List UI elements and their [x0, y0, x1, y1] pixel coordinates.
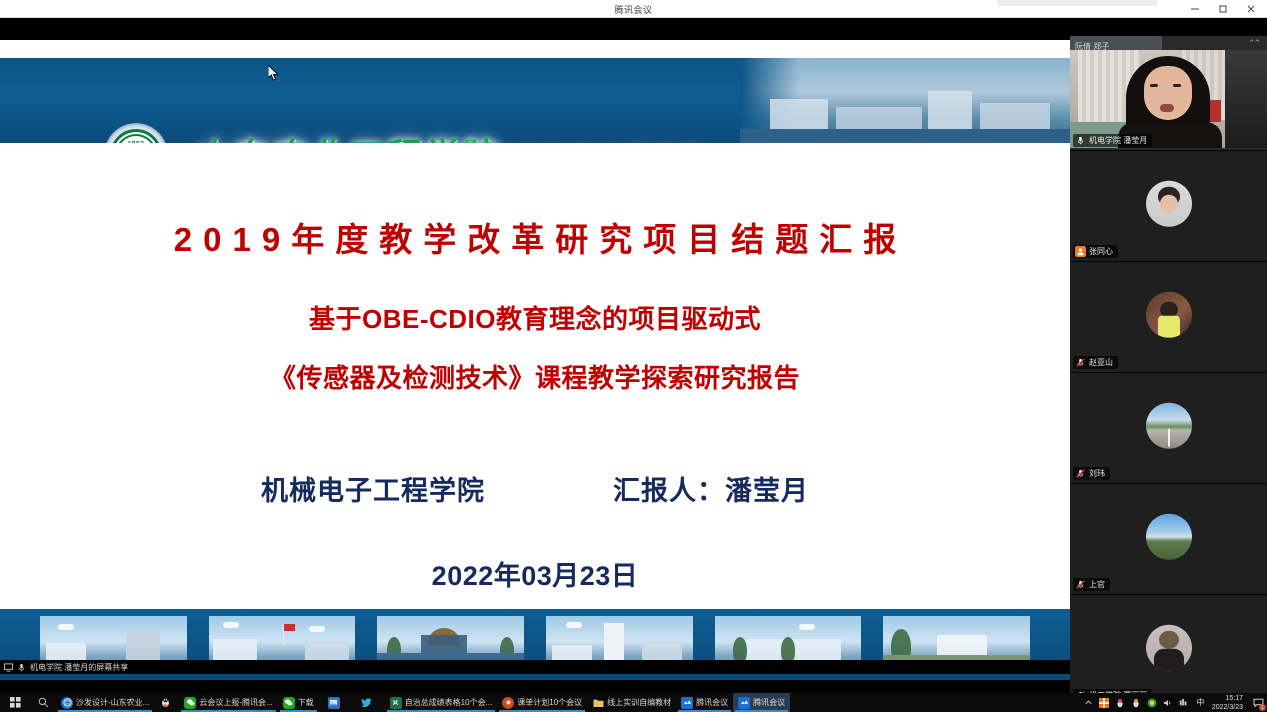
taskbar-item-wechat-2[interactable]: 下载 [278, 693, 319, 712]
taskbar-item-meeting-2[interactable]: 腾讯会议 [733, 693, 790, 712]
avatar [1146, 403, 1192, 449]
taskbar-item-qq[interactable] [154, 693, 179, 712]
notification-center-button[interactable]: 1 [1249, 693, 1267, 712]
app-orange-icon[interactable] [1099, 697, 1110, 708]
participant-name: 上官 [1089, 578, 1105, 591]
participant-tile-6[interactable]: 机工学院 贾丽丽 [1070, 595, 1267, 706]
notification-badge: 1 [1259, 704, 1266, 711]
screen-share-banner: 机电学院 潘莹月的屏幕共享 [0, 660, 1070, 674]
avatar [1146, 181, 1192, 227]
close-button[interactable] [1237, 0, 1265, 18]
participant-name: 机电学院 潘莹月 [1089, 134, 1147, 147]
host-badge-icon [1075, 246, 1086, 257]
university-logo: 1953 [96, 124, 188, 143]
participant-tile-4[interactable]: 刘玮 [1070, 373, 1267, 484]
share-banner-text: 机电学院 潘莹月的屏幕共享 [30, 662, 128, 673]
chevron-up-icon[interactable] [1083, 697, 1094, 708]
participant-namebar: 上官 [1073, 578, 1110, 591]
folder-icon [592, 697, 604, 709]
network-icon[interactable] [1179, 697, 1190, 708]
meeting-icon [738, 697, 750, 709]
window-title: 腾讯会议 [0, 3, 1267, 16]
taskbar-item-meeting-1[interactable]: 腾讯会议 [676, 693, 733, 712]
microphone-muted-icon [1075, 468, 1086, 479]
microphone-muted-icon [1075, 357, 1086, 368]
excel-icon [390, 697, 402, 709]
university-name: 山东农业工程学院 [190, 128, 494, 143]
browser-icon [61, 697, 73, 709]
participant-namebar: 刘玮 [1073, 467, 1110, 480]
taskbar-item-label: 自治总成绩表格10个会... [405, 697, 493, 708]
slide-header-banner: 1953 山东农业工程学院 | 机械电子工程学院 [0, 58, 1070, 143]
presentation-slide: 1953 山东农业工程学院 | 机械电子工程学院 2019年度教学改革研究项目结… [0, 40, 1070, 680]
ime-chinese-icon[interactable]: 中 [1195, 697, 1206, 708]
presenter-name: 汇报人：潘莹月 [613, 469, 809, 508]
participant-tile-self[interactable]: 阮倩 郑子 ⌃⌃ 机电学院 潘莹月 [1070, 36, 1267, 151]
app-pink-icon[interactable] [1115, 697, 1126, 708]
slide-date: 2022年03月23日 [0, 554, 1070, 593]
participant-namebar: 赵亚山 [1073, 356, 1118, 369]
windows-taskbar: 沙发设计-山东农业... 云会议上报-腾讯会... 下载 [0, 693, 1267, 712]
twitter-icon [361, 697, 373, 709]
taskbar-item-label: 线上实训自编教材 [607, 697, 671, 708]
slide-title-main: 2019年度教学改革研究项目结题汇报 [0, 213, 1070, 261]
presenter-row: 机械电子工程学院 汇报人：潘莹月 [0, 469, 1070, 508]
taskbar-item-label: 沙发设计-山东农业... [76, 697, 149, 708]
taskbar-clock[interactable]: 15:17 2022/3/23 [1212, 693, 1249, 712]
slide-subtitle-line2: 《传感器及检测技术》课程教学探索研究报告 [0, 358, 1070, 395]
slide-body: 2019年度教学改革研究项目结题汇报 基于OBE-CDIO教育理念的项目驱动式 … [0, 143, 1070, 593]
taskbar-item-label: 云会议上报-腾讯会... [199, 697, 272, 708]
minimize-button[interactable] [1181, 0, 1209, 18]
slide-subtitle-line1: 基于OBE-CDIO教育理念的项目驱动式 [0, 299, 1070, 336]
chevron-collapse-icon[interactable]: ⌃⌃ [1248, 38, 1259, 49]
taskbar-item-folder[interactable]: 线上实训自编教材 [587, 693, 676, 712]
start-button[interactable] [0, 693, 30, 712]
taskbar-item-label: 腾讯会议 [753, 697, 785, 708]
app-yellow-icon[interactable] [1131, 697, 1142, 708]
taskbar-item-browser[interactable]: 沙发设计-山东农业... [56, 693, 154, 712]
taskbar-item-wechat-1[interactable]: 云会议上报-腾讯会... [179, 693, 277, 712]
microphone-icon [17, 663, 26, 672]
meeting-icon [681, 697, 693, 709]
participant-name: 赵亚山 [1089, 356, 1113, 369]
microphone-on-icon [1075, 135, 1086, 146]
clock-time: 15:17 [1212, 694, 1243, 703]
clock-date: 2022/3/23 [1212, 703, 1243, 712]
app-green-icon[interactable] [1147, 697, 1158, 708]
shared-screen-area: 1953 山东农业工程学院 | 机械电子工程学院 2019年度教学改革研究项目结… [0, 18, 1267, 693]
system-tray: 中 [1077, 693, 1212, 712]
header-campus-photo [740, 58, 1070, 143]
window-titlebar: 腾讯会议 [0, 0, 1267, 18]
taskbar-item-excel[interactable]: 自治总成绩表格10个会... [385, 693, 498, 712]
taskbar-item-label: 课单计划10个会议 [517, 697, 582, 708]
avatar [1146, 514, 1192, 560]
taskbar-apps: 沙发设计-山东农业... 云会议上报-腾讯会... 下载 [56, 693, 1077, 712]
participant-tile-2[interactable]: 张同心 [1070, 151, 1267, 262]
taskbar-item-photos[interactable] [319, 693, 352, 712]
maximize-button[interactable] [1209, 0, 1237, 18]
participant-namebar: 机电学院 潘莹月 [1073, 134, 1152, 147]
wechat-icon [283, 697, 295, 709]
avatar [1146, 292, 1192, 338]
self-view-label: 阮倩 郑子 [1070, 42, 1109, 51]
taskbar-item-label: 腾讯会议 [696, 697, 728, 708]
volume-icon[interactable] [1163, 697, 1174, 708]
header-separator: | [466, 136, 474, 143]
search-icon[interactable] [30, 693, 56, 712]
participant-roster: 阮倩 郑子 ⌃⌃ 机电学院 潘莹月 [1070, 36, 1267, 711]
taskbar-item-ppt[interactable]: 课单计划10个会议 [497, 693, 587, 712]
participant-tile-5[interactable]: 上官 [1070, 484, 1267, 595]
monitor-icon [4, 663, 13, 672]
ppt-icon [502, 697, 514, 709]
participant-namebar: 张同心 [1073, 245, 1118, 258]
taskbar-item-label: 下载 [298, 697, 314, 708]
window-controls [1181, 0, 1265, 18]
self-view-toolbar[interactable]: 阮倩 郑子 [1070, 36, 1162, 50]
microphone-muted-icon [1075, 579, 1086, 590]
participant-name: 张同心 [1089, 245, 1113, 258]
qq-penguin-icon [159, 697, 171, 709]
wechat-icon [184, 697, 196, 709]
photos-icon [328, 697, 340, 709]
participant-tile-3[interactable]: 赵亚山 [1070, 262, 1267, 373]
participant-name: 刘玮 [1089, 467, 1105, 480]
avatar [1146, 625, 1192, 671]
taskbar-item-twitter[interactable] [352, 693, 385, 712]
presenter-unit: 机械电子工程学院 [261, 469, 485, 508]
